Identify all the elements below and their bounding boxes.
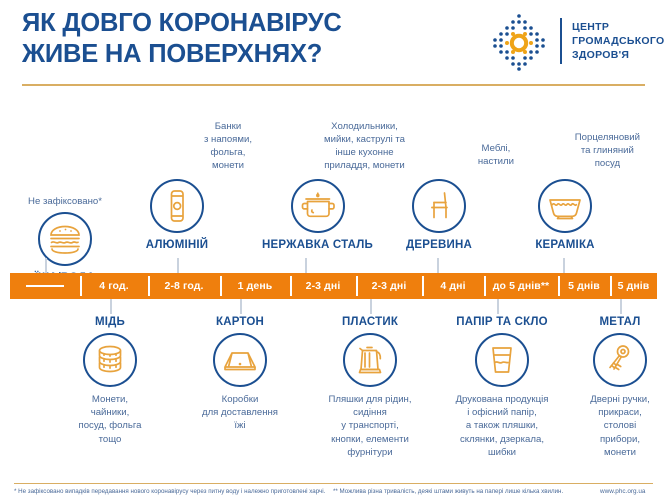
- timeline-segment-wood: 4 дні: [422, 273, 484, 299]
- logo-text-line1: ЦЕНТР: [572, 20, 664, 34]
- infographic-root: ЯК ДОВГО КОРОНАВІРУС ЖИВЕ НА ПОВЕРХНЯХ?: [0, 0, 667, 501]
- timeline-segment-steel: 2-3 дні: [290, 273, 356, 299]
- item-ceramics-desc: Порцеляновий та глиняний посуд: [490, 126, 640, 175]
- cooking-pot-icon: [291, 179, 345, 233]
- electric-kettle-icon: [343, 333, 397, 387]
- tick-cardboard: [240, 298, 242, 314]
- tick-aluminium: [177, 258, 179, 274]
- page-title-line2: ЖИВЕ НА ПОВЕРХНЯХ?: [22, 39, 492, 70]
- item-cardboard-desc: Коробки для доставлення їжі: [165, 393, 315, 433]
- coin-stack-icon: [83, 333, 137, 387]
- item-copper-label: МІДЬ: [35, 316, 185, 328]
- website-url[interactable]: www.phc.org.ua: [600, 488, 645, 495]
- logo-divider: [560, 18, 562, 64]
- item-ceramics: Порцеляновий та глиняний посуд КЕРАМІКА: [490, 126, 640, 251]
- page-title-line1: ЯК ДОВГО КОРОНАВІРУС: [22, 8, 492, 39]
- tick-paper-glass: [497, 298, 499, 314]
- timeline-segment-paper-glass: до 5 днів**: [484, 273, 558, 299]
- item-ceramics-label: КЕРАМІКА: [490, 239, 640, 251]
- item-copper-desc: Монети, чайники, посуд, фольга тощо: [35, 393, 185, 446]
- keys-icon: [593, 333, 647, 387]
- timeline-segment-cardboard: 1 день: [220, 273, 290, 299]
- duration-timeline-bar: 4 год. 2-8 год. 1 день 2-3 дні 2-3 дні 4…: [10, 273, 657, 299]
- item-metal-label: МЕТАЛ: [545, 316, 667, 328]
- aluminium-can-icon: [150, 179, 204, 233]
- item-cardboard-label: КАРТОН: [165, 316, 315, 328]
- item-metal: МЕТАЛ Дверні ручки, прикраси, столові пр…: [545, 316, 667, 459]
- chair-icon: [412, 179, 466, 233]
- organization-logo: ЦЕНТР ГРОМАДСЬКОГО ЗДОРОВ'Я: [488, 12, 660, 72]
- logo-text-line3: ЗДОРОВ'Я: [572, 48, 664, 62]
- tick-ceramics: [563, 258, 565, 274]
- tick-wood: [437, 258, 439, 274]
- timeline-segment-copper: 4 год.: [80, 273, 148, 299]
- footer-divider: [14, 483, 653, 484]
- tick-plastic: [370, 298, 372, 314]
- header: ЯК ДОВГО КОРОНАВІРУС ЖИВЕ НА ПОВЕРХНЯХ?: [0, 0, 667, 88]
- ceramic-bowl-icon: [538, 179, 592, 233]
- item-metal-desc: Дверні ручки, прикраси, столові прибори,…: [545, 393, 667, 459]
- footnote-left: * Не зафіксовано випадків передавання но…: [14, 488, 325, 495]
- header-divider: [22, 84, 645, 86]
- item-copper: МІДЬ Монети, чайники, посуд, фольга тощо: [35, 316, 185, 446]
- tick-metal: [620, 298, 622, 314]
- no-data-dash-icon: [26, 285, 64, 287]
- timeline-segment-food-water: [10, 273, 80, 299]
- tick-steel: [305, 258, 307, 274]
- cardboard-box-icon: [213, 333, 267, 387]
- drinking-cup-icon: [475, 333, 529, 387]
- dot-cluster-logo-icon: [488, 12, 550, 72]
- timeline-segment-plastic: 2-3 дні: [356, 273, 422, 299]
- item-cardboard: КАРТОН Коробки для доставлення їжі: [165, 316, 315, 433]
- timeline-segment-ceramics: 5 днів: [558, 273, 610, 299]
- footnote-right: ** Можлива різна тривалість, деякі штами…: [333, 488, 563, 495]
- tick-food-water: [45, 258, 47, 274]
- logo-text: ЦЕНТР ГРОМАДСЬКОГО ЗДОРОВ'Я: [572, 20, 664, 63]
- timeline-segment-metal: 5 днів: [610, 273, 657, 299]
- tick-copper: [110, 298, 112, 314]
- timeline-segment-aluminium: 2-8 год.: [148, 273, 220, 299]
- page-title: ЯК ДОВГО КОРОНАВІРУС ЖИВЕ НА ПОВЕРХНЯХ?: [22, 8, 492, 70]
- logo-text-line2: ГРОМАДСЬКОГО: [572, 34, 664, 48]
